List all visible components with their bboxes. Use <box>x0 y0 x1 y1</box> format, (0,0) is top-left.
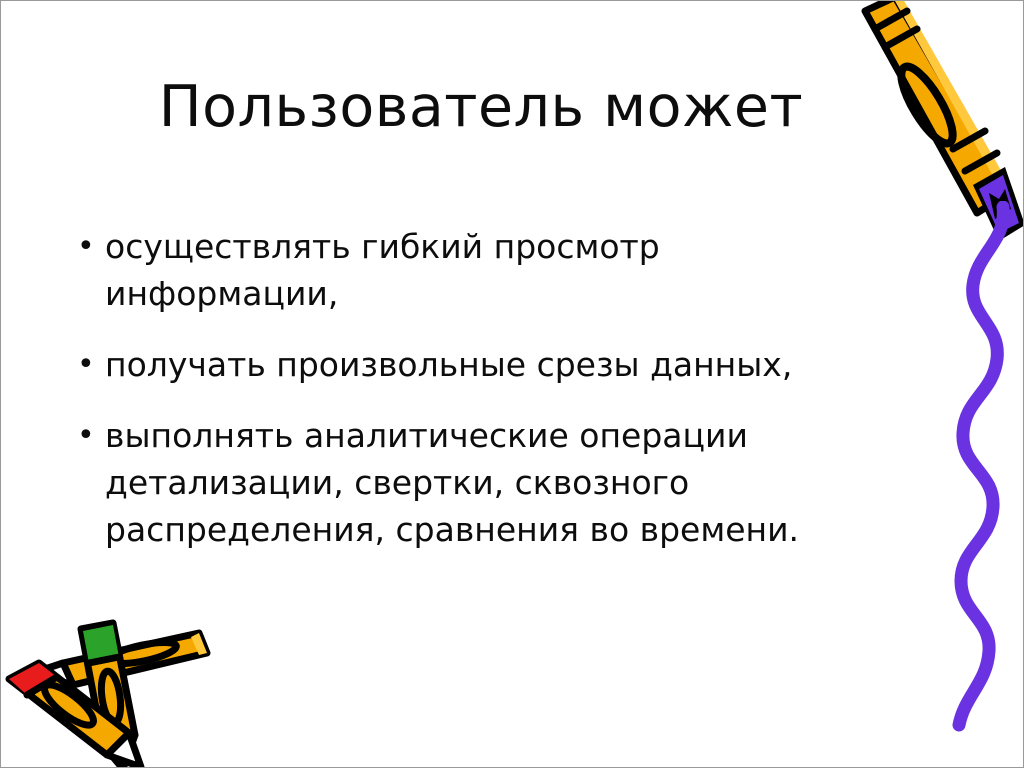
list-item: • получать произвольные срезы данных, <box>69 341 899 388</box>
crossed-crayons-icon <box>3 605 253 768</box>
bullet-marker-icon: • <box>69 341 105 388</box>
purple-squiggle-line-icon <box>947 201 1024 741</box>
presentation-slide: Пользователь может • осуществлять гибкий… <box>0 0 1024 768</box>
bullet-text: получать произвольные срезы данных, <box>105 341 899 388</box>
slide-body-bullet-list: • осуществлять гибкий просмотр информаци… <box>69 223 899 553</box>
crayon-horizontal <box>33 633 207 685</box>
crayon-red <box>9 663 141 767</box>
bullet-text: выполнять аналитические операции детализ… <box>105 412 899 553</box>
bullet-marker-icon: • <box>69 412 105 459</box>
list-item: • осуществлять гибкий просмотр информаци… <box>69 223 899 317</box>
bullet-marker-icon: • <box>69 223 105 270</box>
page-title: Пользователь может <box>61 75 901 139</box>
crayon-green <box>81 623 135 768</box>
slide-title-block: Пользователь может <box>61 75 901 139</box>
list-item: • выполнять аналитические операции детал… <box>69 412 899 553</box>
bullet-text: осуществлять гибкий просмотр информации, <box>105 223 899 317</box>
